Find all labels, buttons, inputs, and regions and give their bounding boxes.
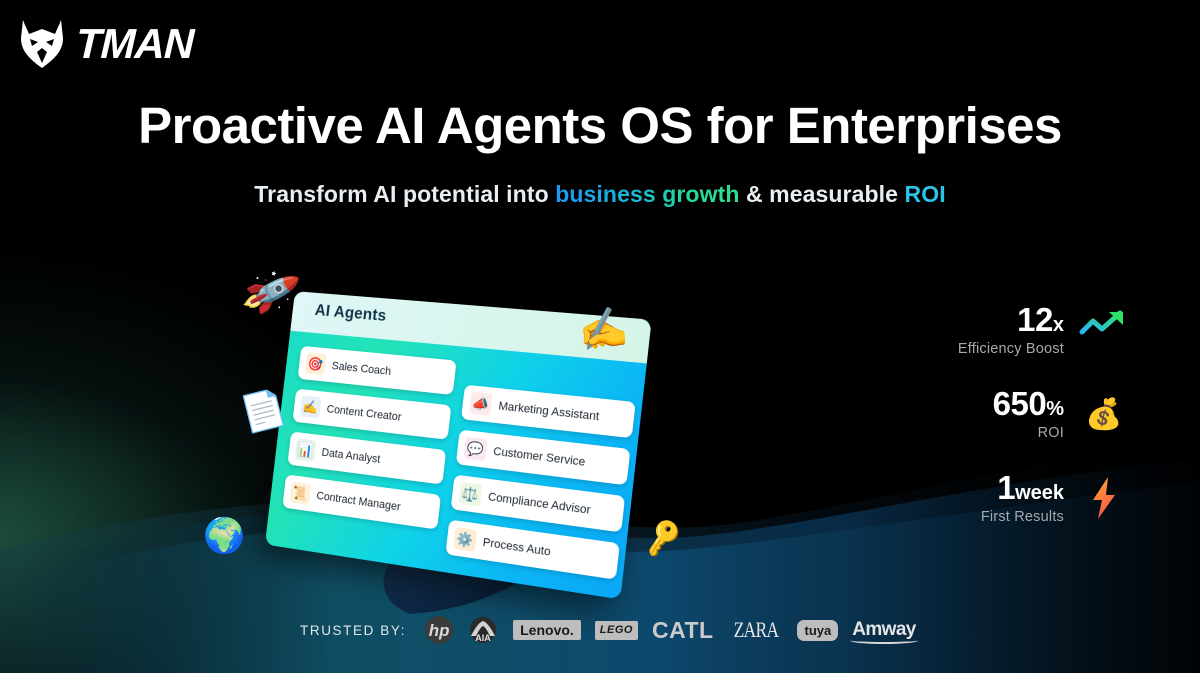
page-title: Proactive AI Agents OS for Enterprises bbox=[0, 96, 1200, 155]
trending-up-icon bbox=[1078, 306, 1130, 354]
stat-roi: 650% ROI 💰 bbox=[880, 372, 1130, 456]
zara-logo-text: ZARA bbox=[733, 617, 778, 643]
subtitle-part-1: Transform AI potential into bbox=[254, 181, 555, 207]
agent-label: Marketing Assistant bbox=[498, 399, 600, 423]
agent-item-sales-coach[interactable]: 🎯 Sales Coach bbox=[298, 346, 457, 395]
bar-chart-icon: 📊 bbox=[295, 438, 317, 461]
amway-logo-text: Amway bbox=[852, 619, 916, 641]
lightning-bolt-icon bbox=[1078, 474, 1130, 522]
stats-panel: 12x Efficiency Boost 650% ROI 💰 1 bbox=[880, 288, 1130, 540]
page-subtitle: Transform AI potential into business gro… bbox=[0, 181, 1200, 208]
agent-item-content-creator[interactable]: ✍️ Content Creator bbox=[292, 389, 451, 440]
document-icon: 📄 bbox=[237, 388, 289, 434]
tuya-logo-text: tuya bbox=[797, 620, 838, 641]
stat-unit: % bbox=[1046, 398, 1064, 420]
agent-label: Compliance Advisor bbox=[487, 490, 591, 516]
catl-logo: CATL bbox=[652, 616, 714, 644]
lenovo-logo-text: Lenovo. bbox=[513, 620, 581, 640]
globe-icon: 🌍 bbox=[203, 519, 245, 553]
ai-agents-column-left: 🎯 Sales Coach ✍️ Content Creator 📊 Data … bbox=[280, 346, 457, 553]
trusted-by-section: TRUSTED BY: hp AIA Lenovo. LEGO CATL ZAR… bbox=[300, 616, 916, 644]
catl-logo-text: CATL bbox=[652, 617, 714, 644]
brand-logo[interactable]: TMAN bbox=[18, 18, 193, 70]
agent-item-data-analyst[interactable]: 📊 Data Analyst bbox=[287, 431, 446, 484]
agent-label: Customer Service bbox=[493, 445, 586, 469]
agent-label: Content Creator bbox=[326, 403, 402, 424]
trusted-by-label: TRUSTED BY: bbox=[300, 623, 406, 638]
stat-unit: week bbox=[1015, 482, 1064, 504]
writing-hand-icon: ✍️ bbox=[300, 395, 322, 418]
tuya-logo: tuya bbox=[797, 616, 838, 644]
stat-text: 1week First Results bbox=[981, 471, 1064, 525]
agent-label: Data Analyst bbox=[321, 446, 381, 466]
subtitle-gradient-text: business growth bbox=[555, 181, 739, 207]
stat-number: 1 bbox=[997, 469, 1015, 506]
scroll-icon: 📜 bbox=[289, 481, 311, 505]
stat-efficiency-boost: 12x Efficiency Boost bbox=[880, 288, 1130, 372]
amway-logo: Amway bbox=[852, 616, 916, 644]
writing-hand-icon: ✍️ bbox=[575, 307, 630, 354]
stat-first-results: 1week First Results bbox=[880, 456, 1130, 540]
stat-number: 650 bbox=[993, 385, 1047, 422]
ai-agents-card-title: AI Agents bbox=[314, 302, 387, 325]
balance-scale-icon: ⚖️ bbox=[458, 482, 482, 507]
gear-icon: ⚙️ bbox=[453, 527, 477, 552]
stat-number: 12 bbox=[1017, 301, 1053, 338]
stat-label: First Results bbox=[981, 509, 1064, 525]
brand-name: TMAN bbox=[75, 23, 194, 65]
fox-head-icon bbox=[18, 18, 66, 70]
ai-agents-grid: 🎯 Sales Coach ✍️ Content Creator 📊 Data … bbox=[267, 331, 647, 581]
hp-logo-text: hp bbox=[425, 616, 453, 644]
stat-text: 650% ROI bbox=[993, 387, 1064, 441]
agent-label: Process Auto bbox=[482, 536, 551, 559]
agent-label: Sales Coach bbox=[331, 359, 392, 377]
aia-logo: AIA bbox=[467, 616, 499, 644]
subtitle-part-2: & measurable bbox=[739, 181, 904, 207]
hp-logo: hp bbox=[425, 616, 453, 644]
money-bag-icon: 💰 bbox=[1078, 390, 1130, 438]
agent-item-marketing-assistant[interactable]: 📣 Marketing Assistant bbox=[461, 385, 636, 439]
speech-balloon-icon: 💬 bbox=[464, 437, 488, 462]
ai-agents-column-right: 📣 Marketing Assistant 💬 Customer Service… bbox=[445, 385, 635, 580]
stat-text: 12x Efficiency Boost bbox=[958, 303, 1064, 357]
subtitle-accent-text: ROI bbox=[905, 181, 946, 207]
lego-logo: LEGO bbox=[595, 616, 638, 644]
megaphone-icon: 📣 bbox=[469, 392, 493, 416]
stat-unit: x bbox=[1053, 314, 1064, 336]
agent-label: Contract Manager bbox=[316, 489, 401, 513]
lego-logo-text: LEGO bbox=[595, 621, 638, 640]
stat-value: 12x bbox=[958, 303, 1064, 338]
lenovo-logo: Lenovo. bbox=[513, 616, 581, 644]
stat-value: 650% bbox=[993, 387, 1064, 422]
svg-text:AIA: AIA bbox=[475, 633, 491, 643]
zara-logo: ZARA bbox=[728, 616, 784, 644]
stat-value: 1week bbox=[981, 471, 1064, 506]
agent-item-contract-manager[interactable]: 📜 Contract Manager bbox=[282, 474, 441, 529]
key-icon: 🔑 bbox=[642, 520, 685, 557]
target-icon: 🎯 bbox=[305, 352, 327, 375]
agent-item-customer-service[interactable]: 💬 Customer Service bbox=[456, 430, 631, 486]
stat-label: ROI bbox=[993, 425, 1064, 441]
stat-label: Efficiency Boost bbox=[958, 341, 1064, 357]
